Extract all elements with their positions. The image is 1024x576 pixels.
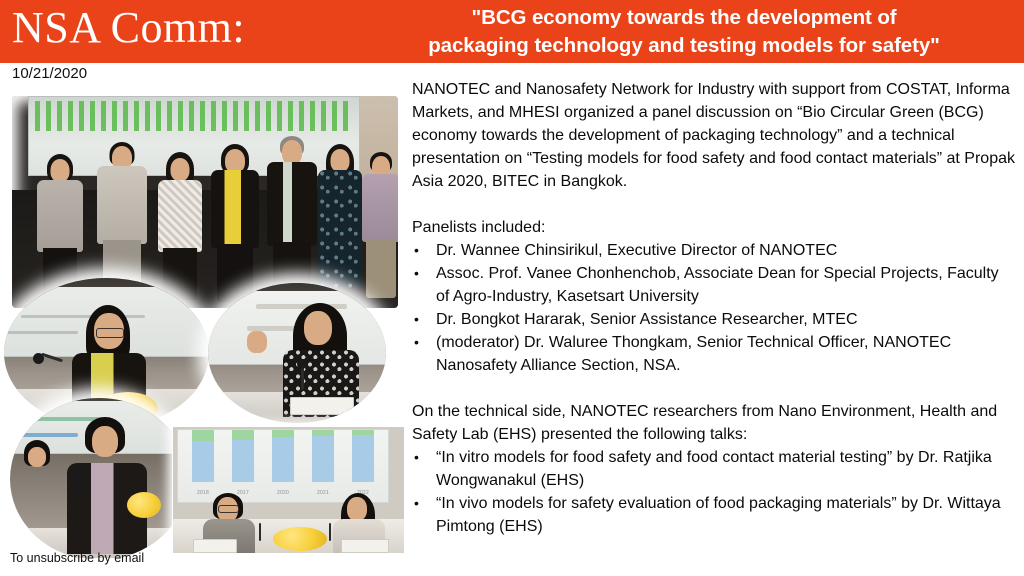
- slide-bar: [192, 430, 214, 482]
- slide-bar-label: 2021: [310, 490, 336, 496]
- list-item: (moderator) Dr. Waluree Thongkam, Senior…: [412, 331, 1016, 377]
- newsletter-page: NSA Comm: "BCG economy towards the devel…: [0, 0, 1024, 576]
- microphone: [259, 523, 261, 541]
- panelists-heading: Panelists included:: [412, 216, 1016, 239]
- slide-bar-label: 2020: [270, 490, 296, 496]
- presenter-photo-microphone: [10, 398, 188, 558]
- list-item: Dr. Bongkot Hararak, Senior Assistance R…: [412, 308, 1016, 331]
- list-item: Dr. Wannee Chinsirikul, Executive Direct…: [412, 239, 1016, 262]
- table-flowers: [273, 527, 327, 551]
- panel-photo-with-slide: 2018 2017 2020 2021 2022: [172, 426, 404, 554]
- slide-bar-label: 2018: [190, 490, 216, 496]
- panelists-list: Dr. Wannee Chinsirikul, Executive Direct…: [412, 239, 1016, 377]
- page-title: "BCG economy towards the development of …: [352, 4, 1016, 60]
- date-label: 10/21/2020: [12, 64, 87, 84]
- paragraph-spacer: [412, 377, 1016, 400]
- page-title-line-2: packaging technology and testing models …: [352, 32, 1016, 60]
- panelist-figure: [208, 144, 262, 302]
- intro-paragraph: NANOTEC and Nanosafety Network for Indus…: [412, 78, 1016, 193]
- slide-bar: [352, 430, 374, 482]
- speaker-photo-gesturing: [208, 283, 386, 423]
- article-body: NANOTEC and Nanosafety Network for Indus…: [412, 78, 1016, 538]
- nameplate: [341, 539, 389, 553]
- photo-collage: 2018 2017 2020 2021 2022: [0, 88, 404, 558]
- unsubscribe-note[interactable]: To unsubscribe by email: [10, 550, 144, 566]
- slide-bar: [232, 430, 254, 482]
- panelist-figure: [360, 152, 398, 302]
- panelist-figure: [347, 497, 367, 521]
- technical-heading: On the technical side, NANOTEC researche…: [412, 400, 1016, 446]
- list-item: “In vitro models for food safety and foo…: [412, 446, 1016, 492]
- list-item: Assoc. Prof. Vanee Chonhenchob, Associat…: [412, 262, 1016, 308]
- panelist-figure: [264, 136, 320, 302]
- nameplate: [193, 539, 237, 553]
- panelist-figure: [316, 144, 364, 302]
- brand-title: NSA Comm:: [12, 2, 245, 54]
- slide-bar: [272, 430, 294, 482]
- slide-bar: [312, 430, 334, 482]
- talks-list: “In vitro models for food safety and foo…: [412, 446, 1016, 538]
- group-photo: [12, 96, 398, 308]
- microphone: [329, 523, 331, 541]
- projected-slide: 2018 2017 2020 2021 2022: [177, 429, 389, 503]
- glasses-icon: [218, 505, 239, 513]
- paragraph-spacer: [412, 193, 1016, 216]
- page-title-line-1: "BCG economy towards the development of: [352, 4, 1016, 32]
- list-item: “In vivo models for safety evaluation of…: [412, 492, 1016, 538]
